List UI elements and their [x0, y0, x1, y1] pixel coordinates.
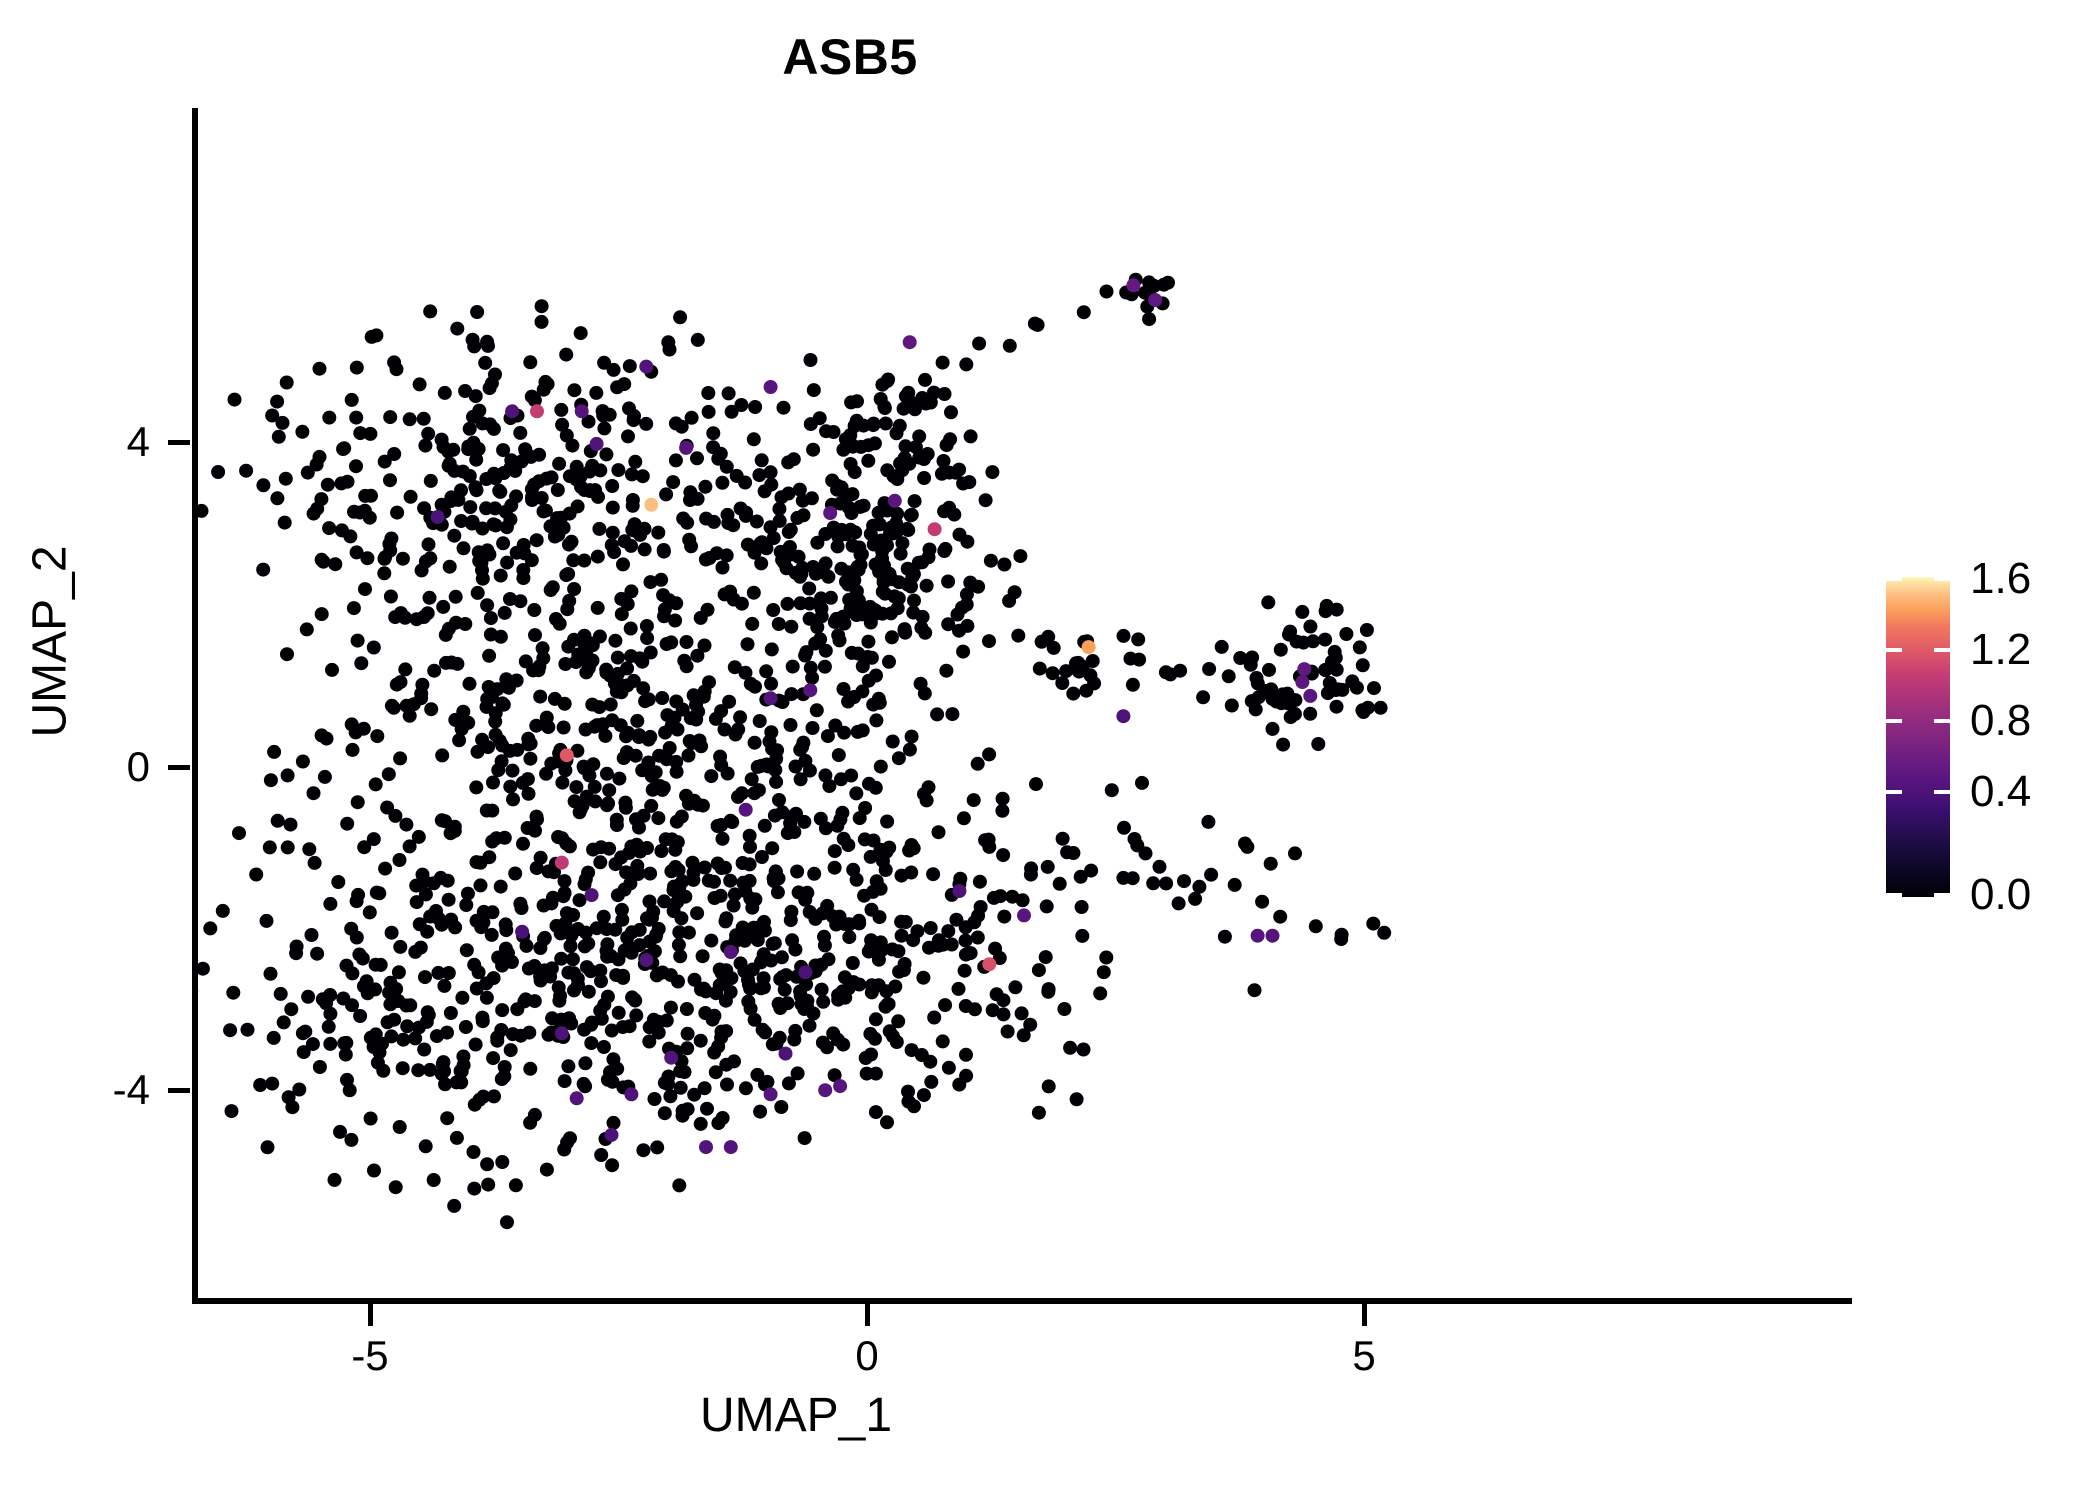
- x-axis-title: UMAP_1: [196, 1388, 1396, 1443]
- colorbar-gradient: [1886, 577, 1950, 897]
- x-tick-mark-0: [865, 1304, 870, 1326]
- x-tick-label-neg5: -5: [351, 1332, 388, 1380]
- colorbar-label-1_6: 1.6: [1970, 554, 2031, 604]
- colorbar-tick-0_8: [1886, 719, 1950, 723]
- colorbar-tick-1_2: [1886, 648, 1950, 652]
- x-tick-label-5: 5: [1352, 1332, 1375, 1380]
- x-tick-mark-neg5: [368, 1304, 373, 1326]
- y-tick-mark-0: [168, 765, 190, 770]
- colorbar-label-1_2: 1.2: [1970, 625, 2031, 675]
- chart-title: ASB5: [0, 28, 1700, 86]
- colorbar-label-0_8: 0.8: [1970, 696, 2031, 746]
- colorbar-tick-0_4: [1886, 790, 1950, 794]
- colorbar-label-0_0: 0.0: [1970, 870, 2031, 920]
- y-tick-mark-neg4: [168, 1088, 190, 1093]
- scatter-points: [196, 108, 1396, 1300]
- x-tick-mark-5: [1362, 1304, 1367, 1326]
- y-tick-label-neg4: -4: [0, 1066, 150, 1114]
- figure-root: ASB5 4 0 -4 -5 0 5 UMAP_1 UMAP_2 1.6 1.2…: [0, 0, 2100, 1500]
- y-tick-mark-4: [168, 440, 190, 445]
- colorbar-label-0_4: 0.4: [1970, 767, 2031, 817]
- colorbar-legend: 1.6 1.2 0.8 0.4 0.0: [1886, 577, 1950, 897]
- x-tick-label-0: 0: [855, 1332, 878, 1380]
- colorbar-tick-1_6: [1886, 577, 1950, 581]
- plot-panel: [196, 108, 1396, 1300]
- y-axis-title: UMAP_2: [23, 432, 78, 852]
- colorbar-tick-0_0: [1886, 893, 1950, 897]
